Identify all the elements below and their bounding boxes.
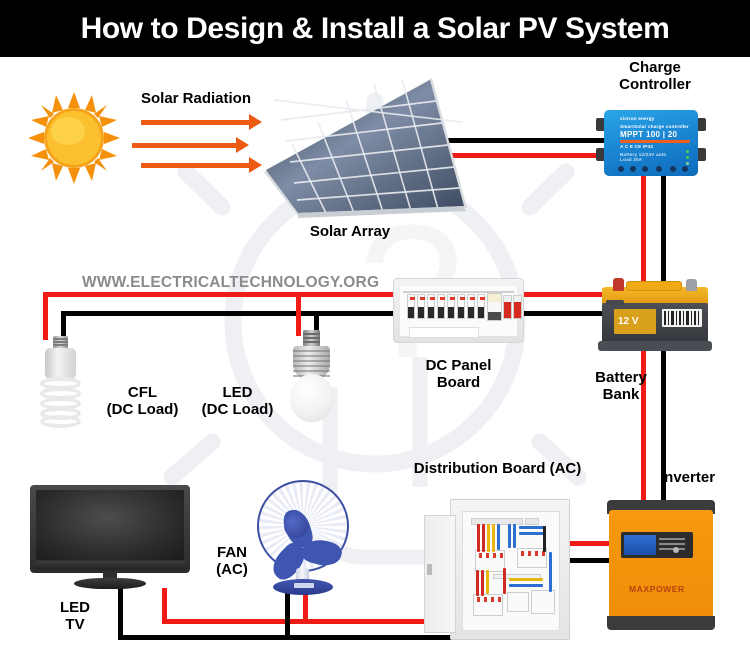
- wire-inverter-to-db-positive: [566, 541, 612, 546]
- battery-barcode: [662, 309, 702, 327]
- solar-array: [262, 78, 477, 223]
- inverter-brand-label: MAXPOWER: [629, 584, 685, 594]
- charge-controller-brand: victron energy: [620, 116, 654, 121]
- solar-array-label: Solar Array: [293, 224, 407, 241]
- radiation-arrow-3-line: [141, 163, 251, 168]
- watermark-url: WWW.ELECTRICALTECHNOLOGY.ORG: [82, 274, 379, 292]
- cfl-lamp-device: [33, 336, 89, 428]
- inverter-label: Inverter: [660, 470, 744, 487]
- dc-panel-board-label: DC Panel Board: [406, 358, 511, 392]
- fan-label: FAN (AC): [196, 545, 268, 579]
- wire-fan-negative-drop: [285, 592, 290, 640]
- sun-icon: [28, 92, 120, 184]
- distribution-board-label: Distribution Board (AC): [390, 461, 605, 478]
- charge-controller-label: Charge Controller: [600, 60, 710, 94]
- led-lamp-device: [284, 330, 340, 430]
- radiation-arrow-2-head: [236, 137, 249, 153]
- battery-negative-terminal: [686, 279, 697, 291]
- led-tv-label: LED TV: [40, 600, 110, 634]
- wire-tv-negative-drop: [118, 588, 123, 640]
- cfl-label: CFL (DC Load): [90, 385, 195, 419]
- wire-controller-to-battery-positive: [641, 168, 646, 290]
- wire-battery-to-dc-panel-positive: [516, 292, 604, 297]
- battery-positive-terminal: [613, 278, 624, 291]
- wire-cfl-positive-drop: [43, 292, 48, 340]
- title-bar: How to Design & Install a Solar PV Syste…: [0, 0, 750, 57]
- wire-battery-to-dc-panel-negative: [516, 311, 604, 316]
- dc-bus-positive-rail: [43, 292, 405, 297]
- led-tv-device: [30, 485, 190, 590]
- charge-controller-device: victron energy SmartSolar charge control…: [596, 108, 706, 180]
- wire-fan-positive-drop: [303, 592, 308, 624]
- inverter-device: MAXPOWER: [607, 500, 715, 630]
- radiation-arrow-3-head: [249, 157, 262, 173]
- led-lamp-label: LED (DC Load): [185, 385, 290, 419]
- charge-controller-subtitle: SmartSolar charge controller: [620, 124, 689, 129]
- radiation-arrow-2-line: [132, 143, 238, 148]
- diagram-canvas: How to Design & Install a Solar PV Syste…: [0, 0, 750, 650]
- dc-bus-negative-rail: [61, 311, 405, 316]
- battery-voltage-label: 12 V: [614, 309, 656, 334]
- wire-controller-to-battery-negative: [661, 168, 666, 290]
- charge-controller-model: MPPT 100 | 20: [620, 130, 677, 139]
- radiation-arrow-1-line: [141, 120, 251, 125]
- radiation-arrow-1-head: [249, 114, 262, 130]
- dc-panel-board-device: [393, 278, 524, 343]
- battery-bank-label: Battery Bank: [576, 370, 666, 404]
- wire-tv-positive-drop: [162, 588, 167, 624]
- page-title: How to Design & Install a Solar PV Syste…: [81, 12, 670, 46]
- charge-controller-certs: A C E CE IP43: [620, 144, 653, 149]
- distribution-board-device: [420, 495, 570, 640]
- wire-inverter-to-db-negative: [566, 558, 612, 563]
- battery-bank-device: 12 V: [596, 275, 714, 355]
- distribution-board-interior: [462, 511, 560, 631]
- solar-radiation-label: Solar Radiation: [131, 91, 261, 108]
- charge-controller-body: victron energy SmartSolar charge control…: [604, 110, 698, 176]
